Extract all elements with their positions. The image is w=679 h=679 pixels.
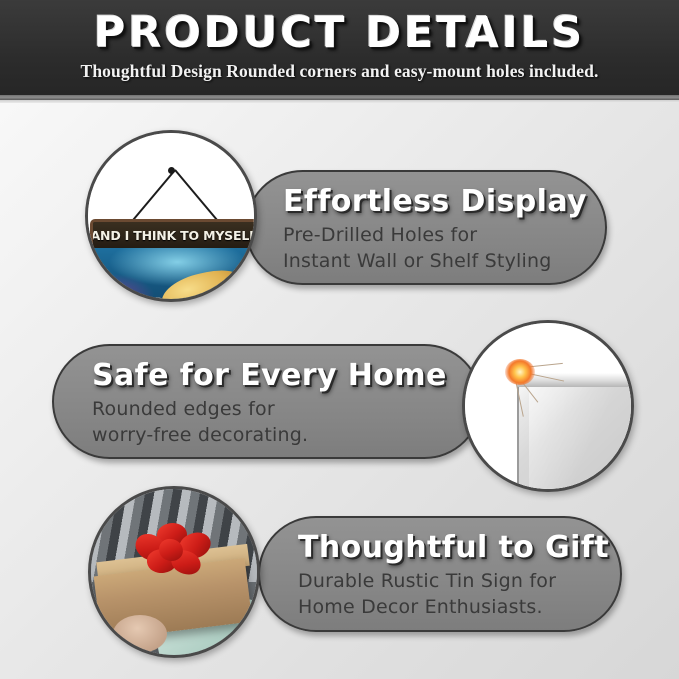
feature-pill-effortless-display: Effortless Display Pre-Drilled Holes for… — [245, 170, 607, 285]
feature-row-safe-for-every-home: Safe for Every Home Rounded edges for wo… — [0, 310, 679, 488]
feature-row-thoughtful-to-gift: Thoughtful to Gift Durable Rustic Tin Si… — [0, 480, 679, 665]
feature-pill-safe-for-every-home: Safe for Every Home Rounded edges for wo… — [52, 344, 482, 459]
feature-image-hanging-tin-sign: AND I THINK TO MYSELF — [85, 130, 257, 302]
feature-image-rounded-corner — [462, 320, 634, 492]
feature-description-line-1: Rounded edges for — [92, 396, 447, 422]
gift-bow-icon — [135, 523, 211, 575]
feature-description-line-2: Instant Wall or Shelf Styling — [283, 248, 587, 274]
sign-nail-icon — [168, 167, 175, 174]
gift-illustration — [91, 489, 257, 655]
page-subtitle: Thoughtful Design Rounded corners and ea… — [0, 57, 679, 82]
feature-text-block: Thoughtful to Gift Durable Rustic Tin Si… — [298, 528, 609, 620]
feature-image-gift-handoff — [88, 486, 260, 658]
header-divider-light — [0, 100, 679, 103]
page-title: PRODUCT DETAILS — [0, 0, 679, 57]
feature-title: Thoughtful to Gift — [298, 528, 609, 568]
feature-row-effortless-display: Effortless Display Pre-Drilled Holes for… — [0, 126, 679, 306]
coral-icon — [99, 293, 135, 302]
feature-title: Safe for Every Home — [92, 356, 447, 396]
rounded-corner-illustration — [465, 323, 631, 489]
mermaid-hair — [157, 264, 252, 302]
sign-text-band: AND I THINK TO MYSELF — [93, 222, 255, 248]
feature-title: Effortless Display — [283, 182, 587, 222]
feature-text-block: Effortless Display Pre-Drilled Holes for… — [283, 182, 587, 274]
sign-cord-left-icon — [128, 169, 176, 225]
feature-pill-thoughtful-to-gift: Thoughtful to Gift Durable Rustic Tin Si… — [258, 516, 622, 632]
sign-underwater-scene — [93, 248, 255, 302]
tin-sign-illustration: AND I THINK TO MYSELF — [88, 133, 254, 299]
hand-icon — [113, 615, 167, 653]
header-content: PRODUCT DETAILS Thoughtful Design Rounde… — [0, 0, 679, 82]
sign-cord-right-icon — [174, 169, 222, 225]
sign-plate: AND I THINK TO MYSELF — [90, 219, 257, 302]
feature-description-line-2: worry-free decorating. — [92, 422, 447, 448]
corner-highlight-spark-icon — [505, 359, 535, 385]
product-details-infographic: PRODUCT DETAILS Thoughtful Design Rounde… — [0, 0, 679, 679]
sign-text: AND I THINK TO MYSELF — [91, 228, 257, 243]
header-banner: PRODUCT DETAILS Thoughtful Design Rounde… — [0, 0, 679, 95]
feature-description-line-1: Durable Rustic Tin Sign for — [298, 568, 609, 594]
feature-text-block: Safe for Every Home Rounded edges for wo… — [92, 356, 447, 448]
feature-description-line-2: Home Decor Enthusiasts. — [298, 594, 609, 620]
feature-description-line-1: Pre-Drilled Holes for — [283, 222, 587, 248]
metal-sign-plate — [517, 373, 634, 492]
